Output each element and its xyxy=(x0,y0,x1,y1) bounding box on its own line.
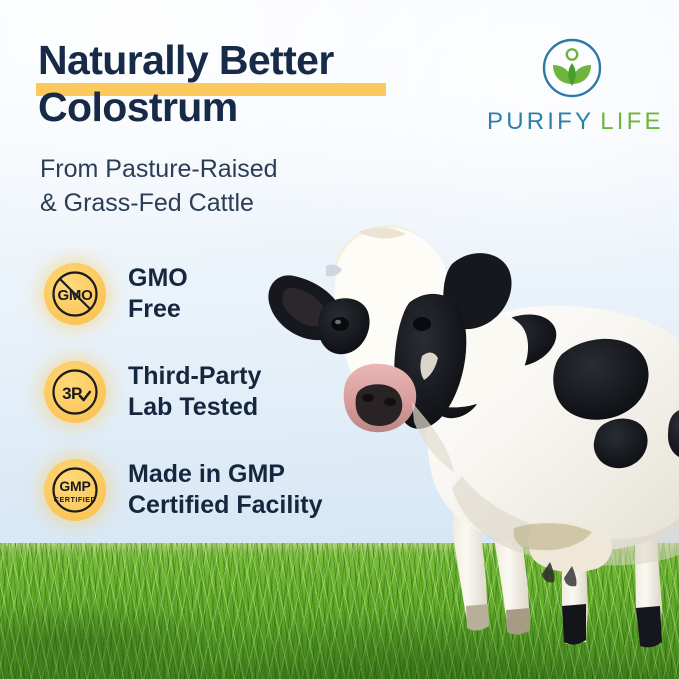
subheadline-line-2: & Grass-Fed Cattle xyxy=(40,186,400,220)
headline-line-1: Naturally Better xyxy=(38,40,468,81)
brand-word-primary: PURIFY xyxy=(487,108,594,135)
brand-word-secondary: LIFE xyxy=(600,108,663,135)
leaf-person-circle-icon xyxy=(487,36,657,100)
svg-text:GMO: GMO xyxy=(58,287,94,304)
gmo-free-icon: GMO xyxy=(44,263,106,325)
badge-label-gmo-free: GMO Free xyxy=(128,263,188,326)
gmp-certified-icon: GMP CERTIFIED xyxy=(44,459,106,521)
badge-label-gmp-certified: Made in GMP Certified Facility xyxy=(128,459,323,522)
certification-badge-list: GMO GMO Free 3P Third-Party Lab Tested xyxy=(44,252,384,532)
badge-item-third-party: 3P Third-Party Lab Tested xyxy=(44,350,384,434)
third-party-tested-icon: 3P xyxy=(44,361,106,423)
headline-block: Naturally Better Colostrum xyxy=(38,40,468,128)
badge-label-third-party: Third-Party Lab Tested xyxy=(128,361,261,424)
product-lifestyle-banner: Naturally Better Colostrum From Pasture-… xyxy=(0,0,679,679)
svg-text:3P: 3P xyxy=(62,384,82,403)
svg-text:CERTIFIED: CERTIFIED xyxy=(54,495,96,504)
headline-line-1-text: Naturally Better xyxy=(38,37,334,83)
brand-wordmark: PURIFYLIFE xyxy=(487,108,657,136)
subheadline-line-1: From Pasture-Raised xyxy=(40,152,400,186)
brand-logo: PURIFYLIFE xyxy=(487,36,657,136)
svg-text:GMP: GMP xyxy=(59,478,90,494)
badge-item-gmo-free: GMO GMO Free xyxy=(44,252,384,336)
subheadline-block: From Pasture-Raised & Grass-Fed Cattle xyxy=(40,152,400,220)
badge-item-gmp-certified: GMP CERTIFIED Made in GMP Certified Faci… xyxy=(44,448,384,532)
headline-line-2-text: Colostrum xyxy=(38,84,238,130)
